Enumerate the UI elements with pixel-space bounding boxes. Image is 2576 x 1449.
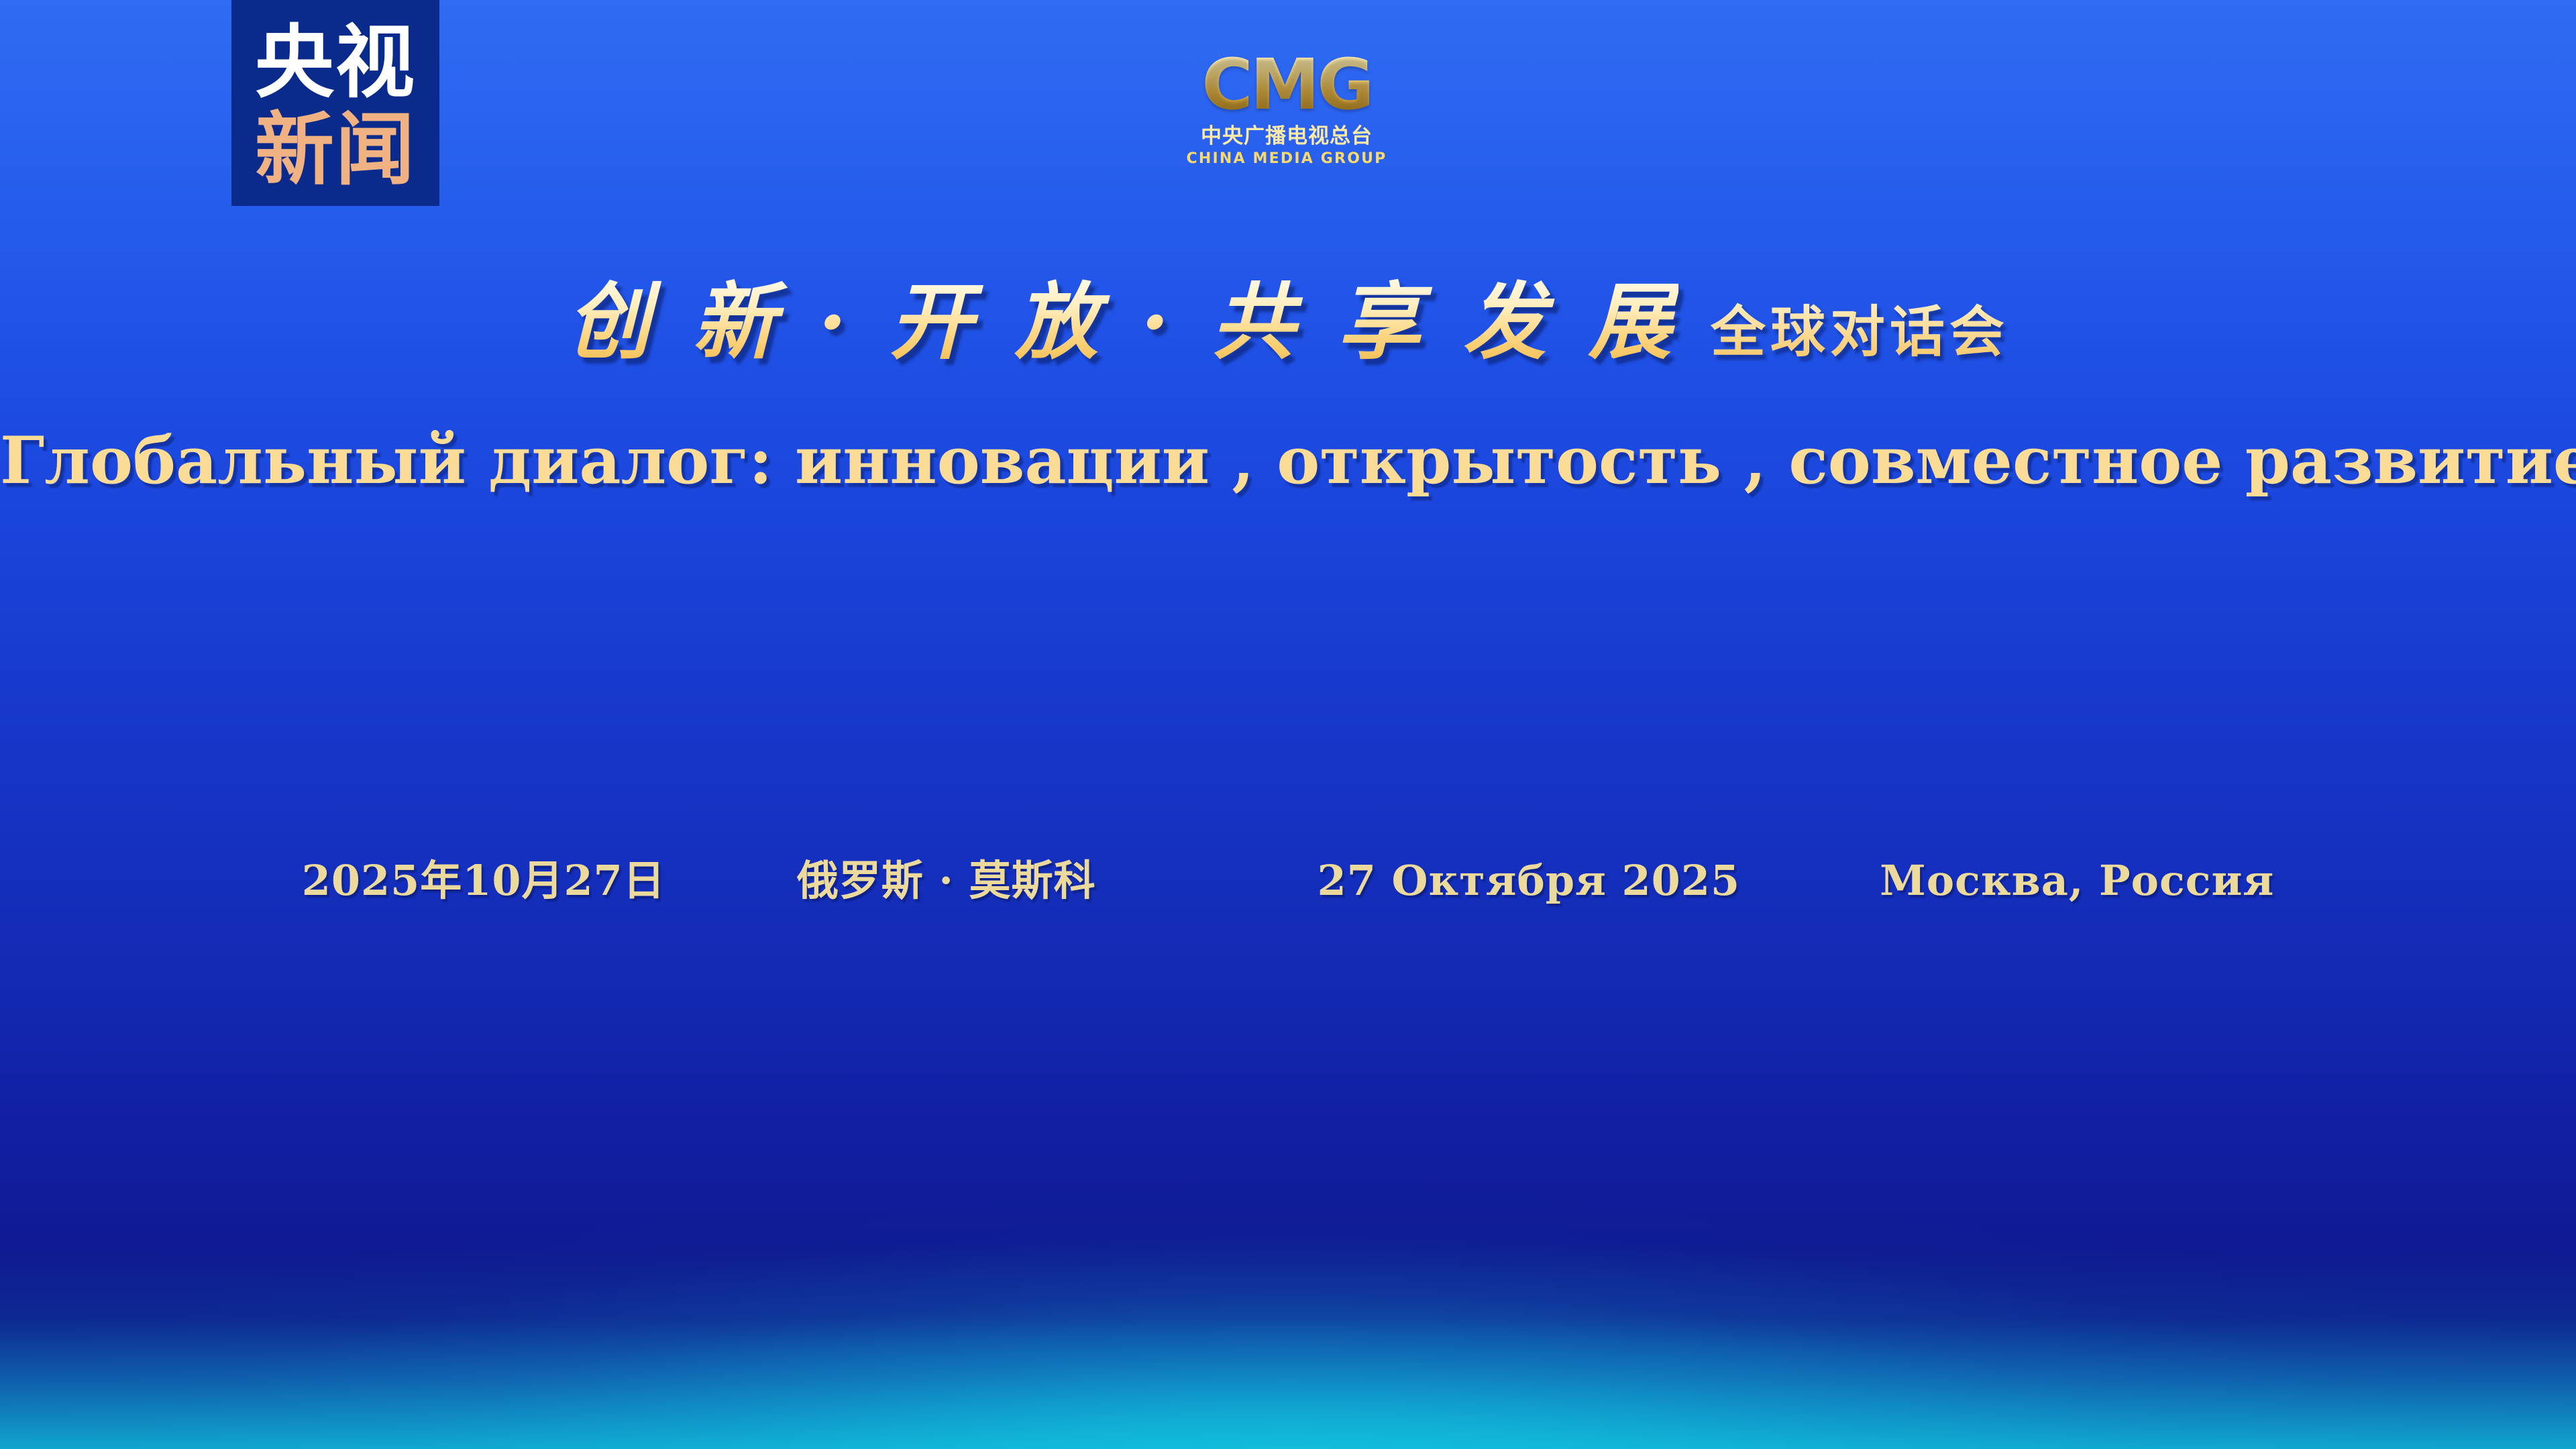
cctv-logo-line2: 新闻 [255,110,416,189]
headline-chinese-main: 创 新 · 开 放 · 共 享 发 展 [567,275,1678,371]
event-date-chinese: 2025年10月27日 [302,847,665,907]
bottom-edge-glow [0,1248,2576,1449]
bottom-cyan-glow [0,1060,2576,1449]
cmg-logo: CMG 中央广播电视总台 CHINA MEDIA GROUP [1186,50,1387,166]
headline-russian: Глобальный диалог: инновации , открытост… [0,423,2576,498]
cctv-news-logo: 央视 新闻 [231,0,439,206]
event-meta-row: 2025年10月27日 俄罗斯 · 莫斯科 27 Октября 2025 Мо… [0,847,2576,907]
event-date-russian: 27 Октября 2025 [1318,856,1741,905]
headline-chinese-event: 全球对话会 [1711,301,2009,364]
cmg-english-name: CHINA MEDIA GROUP [1186,152,1387,166]
event-location-chinese: 俄罗斯 · 莫斯科 [797,847,1096,907]
cctv-logo-line1: 央视 [255,23,416,102]
event-title-card: 央视 新闻 CMG 中央广播电视总台 CHINA MEDIA GROUP 创 新… [0,0,2576,1449]
headline-chinese-row: 创 新 · 开 放 · 共 享 发 展 全球对话会 [0,275,2576,371]
cmg-wordmark: CMG [1201,50,1371,119]
cmg-chinese-name: 中央广播电视总台 [1186,126,1387,147]
event-location-russian: Москва, Россия [1880,856,2274,905]
